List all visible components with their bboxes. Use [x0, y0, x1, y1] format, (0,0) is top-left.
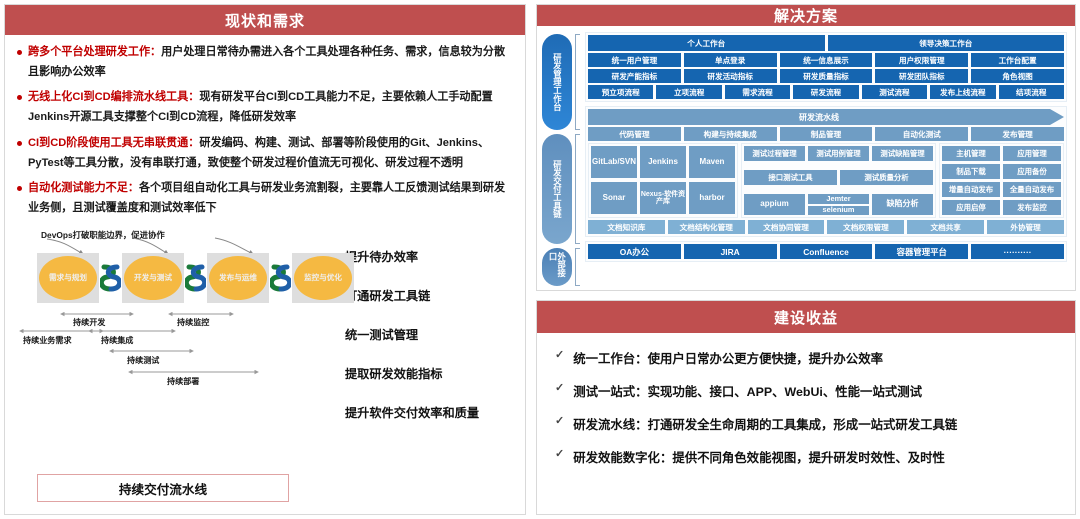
benefit-value: 实现功能、接口、APP、WebUi、性能一站式测试 — [648, 385, 922, 399]
benefit-key: 研发效能数字化： — [573, 451, 672, 465]
benefit-text: 研发流水线：打通研发全生命周期的工具集成，形成一站式研发工具链 — [573, 415, 957, 433]
benefit-value: 提供不同角色效能视图，提升研发时效性、及时性 — [672, 451, 945, 465]
list-item: 跨多个平台处理研发工作：用户处理日常待办需进入各个工具处理各种任务、需求，信息较… — [15, 43, 515, 82]
tool-box-api-test[interactable]: 接口测试工具 — [744, 170, 837, 185]
devops-stage-label: 发布与运维 — [209, 256, 267, 300]
devops-note: DevOps打破职能边界，促进协作 — [41, 229, 165, 241]
module-box[interactable]: 发布上线流程 — [930, 85, 995, 99]
bracket — [575, 134, 580, 244]
external-box-oa[interactable]: OA办公 — [588, 244, 681, 259]
layer-pill-external: 外部接口 — [542, 248, 572, 286]
benefits-title: 建设收益 — [537, 301, 1075, 333]
tool-row: 主机管理 应用管理 — [942, 146, 1061, 161]
tool-box-selenium[interactable]: selenium — [808, 206, 869, 216]
benefit-text: 测试一站式：实现功能、接口、APP、WebUi、性能一站式测试 — [573, 382, 922, 400]
deploy-tools: 主机管理 应用管理 制品下载 应用备份 增量自动发布 全量自动发布 — [939, 143, 1064, 218]
benefit-key: 统一工作台： — [573, 352, 647, 366]
outcome-item: 提取研发效能指标 — [345, 364, 515, 382]
benefit-text: 研发效能数字化：提供不同角色效能视图，提升研发时效性、及时性 — [573, 448, 945, 466]
bullet-key: 跨多个平台处理研发工作： — [28, 46, 161, 58]
module-box[interactable]: 角色视图 — [971, 69, 1064, 83]
slide-root: 现状和需求 跨多个平台处理研发工作：用户处理日常待办需进入各个工具处理各种任务、… — [0, 0, 1080, 519]
list-item: 无线上化CI到CD编排流水线工具：现有研发平台CI到CD工具能力不足，主要依赖人… — [15, 88, 515, 127]
tool-row: appium Jemter selenium 缺陷分析 — [744, 194, 933, 215]
current-state-body: 跨多个平台处理研发工作：用户处理日常待办需进入各个工具处理各种任务、需求，信息较… — [5, 35, 525, 514]
list-item: ✓ 统一工作台：使用户日常办公更方便快捷，提升办公效率 — [555, 349, 1061, 367]
workbench-leader[interactable]: 领导决策工作台 — [828, 35, 1065, 51]
tool-box-defect-analysis[interactable]: 缺陷分析 — [872, 194, 933, 215]
external-box-more[interactable]: ·········· — [971, 244, 1064, 259]
tool-box-test-case[interactable]: 测试用例管理 — [808, 146, 869, 161]
measure-label: 持续部署 — [167, 376, 199, 387]
devops-stage: 发布与运维 — [207, 253, 269, 303]
phase-box[interactable]: 发布管理 — [971, 127, 1064, 141]
check-icon: ✓ — [555, 448, 564, 462]
tool-box-jenkins[interactable]: Jenkins — [640, 146, 686, 178]
outcome-item: 提升软件交付效率和质量 — [345, 403, 515, 421]
measure-label: 持续业务需求 — [23, 335, 72, 346]
tool-box-maven[interactable]: Maven — [689, 146, 735, 178]
tool-box-test-process[interactable]: 测试过程管理 — [744, 146, 805, 161]
tool-matrix: GitLab/SVN Jenkins Maven Sonar Nexus-软件资… — [588, 143, 1064, 218]
module-box[interactable]: 测试流程 — [862, 85, 927, 99]
module-box[interactable]: 研发流程 — [793, 85, 858, 99]
pipeline-arrow: 研发流水线 — [588, 109, 1064, 125]
check-icon: ✓ — [555, 382, 564, 396]
test-tools: 测试过程管理 测试用例管理 测试缺陷管理 接口测试工具 测试质量分析 appiu… — [741, 143, 936, 218]
measure-arrow-lines — [15, 309, 345, 439]
devops-graphic: DevOps打破职能边界，促进协作 — [15, 225, 345, 510]
devops-stage-label: 需求与规划 — [39, 256, 97, 300]
list-item: ✓ 研发流水线：打通研发全生命周期的工具集成，形成一站式研发工具链 — [555, 415, 1061, 433]
module-box[interactable]: 研发活动指标 — [684, 69, 777, 83]
outcome-item: 统一测试管理 — [345, 325, 515, 343]
tool-box-gitlab[interactable]: GitLab/SVN — [591, 146, 637, 178]
module-box[interactable]: 结项流程 — [999, 85, 1064, 99]
infinity-icon — [184, 262, 207, 294]
right-column: 解决方案 研发管理工作台 研发交付工具链 外部接口 个人工作台 — [536, 4, 1076, 515]
external-group: OA办公 JIRA Confluence 容器管理平台 ·········· — [585, 241, 1067, 262]
workbench-row-2: 统一用户管理 单点登录 统一信息展示 用户权限管理 工作台配置 — [588, 53, 1064, 67]
tool-row: 增量自动发布 全量自动发布 — [942, 182, 1061, 197]
outcome-item: 提升待办效率 — [345, 247, 515, 265]
benefit-text: 统一工作台：使用户日常办公更方便快捷，提升办公效率 — [573, 349, 883, 367]
devops-stage: 需求与规划 — [37, 253, 99, 303]
tool-box-sonar[interactable]: Sonar — [591, 182, 637, 214]
benefit-value: 打通研发全生命周期的工具集成，形成一站式研发工具链 — [648, 418, 958, 432]
bullet-key: 无线上化CI到CD编排流水线工具： — [28, 91, 199, 103]
doc-box[interactable]: 文档知识库 — [588, 220, 665, 234]
infinity-icon — [99, 262, 122, 294]
external-row: OA办公 JIRA Confluence 容器管理平台 ·········· — [588, 244, 1064, 259]
bullet-key: 自动化测试能力不足： — [28, 182, 139, 194]
tool-box-full-release[interactable]: 全量自动发布 — [1003, 182, 1061, 197]
doc-box[interactable]: 文档协同管理 — [748, 220, 825, 234]
solution-card: 解决方案 研发管理工作台 研发交付工具链 外部接口 个人工作台 — [536, 4, 1076, 291]
tool-subcolumn: Jemter selenium — [808, 194, 869, 215]
list-item: ✓ 研发效能数字化：提供不同角色效能视图，提升研发时效性、及时性 — [555, 448, 1061, 466]
workbench-row-3: 研发产能指标 研发活动指标 研发质量指标 研发团队指标 角色视图 — [588, 69, 1064, 83]
outcomes-list: 提升待办效率 打通研发工具链 统一测试管理 提取研发效能指标 提升软件交付效率和… — [345, 225, 515, 510]
module-box[interactable]: 单点登录 — [684, 53, 777, 67]
current-state-title: 现状和需求 — [5, 5, 525, 35]
tool-box-app-startstop[interactable]: 应用启停 — [942, 200, 1000, 215]
solution-title: 解决方案 — [537, 5, 1075, 26]
tool-row: 制品下载 应用备份 — [942, 164, 1061, 179]
layer-pill-toolchain: 研发交付工具链 — [542, 134, 572, 244]
tool-row: 应用启停 发布监控 — [942, 200, 1061, 215]
workbench-group: 个人工作台 领导决策工作台 统一用户管理 单点登录 统一信息展示 用户权限管理 … — [585, 32, 1067, 102]
bracket — [575, 248, 580, 286]
devops-stage-label: 开发与测试 — [124, 256, 182, 300]
scm-build-tools: GitLab/SVN Jenkins Maven Sonar Nexus-软件资… — [588, 143, 738, 218]
tool-box-release-monitor[interactable]: 发布监控 — [1003, 200, 1061, 215]
tool-row: 测试过程管理 测试用例管理 测试缺陷管理 — [744, 146, 933, 167]
phase-box[interactable]: 构建与持续集成 — [684, 127, 777, 141]
current-state-card: 现状和需求 跨多个平台处理研发工作：用户处理日常待办需进入各个工具处理各种任务、… — [4, 4, 526, 515]
pipeline-phase-row: 代码管理 构建与持续集成 制品管理 自动化测试 发布管理 — [588, 127, 1064, 141]
benefit-value: 使用户日常办公更方便快捷，提升办公效率 — [648, 352, 883, 366]
current-state-bullet-list: 跨多个平台处理研发工作：用户处理日常待办需进入各个工具处理各种任务、需求，信息较… — [15, 43, 515, 219]
module-box[interactable]: 统一信息展示 — [780, 53, 873, 67]
phase-box[interactable]: 代码管理 — [588, 127, 681, 141]
external-box-container-platform[interactable]: 容器管理平台 — [875, 244, 968, 259]
continuous-delivery-pipeline-box: 持续交付流水线 — [37, 474, 289, 502]
tool-box-host-mgmt[interactable]: 主机管理 — [942, 146, 1000, 161]
external-box-confluence[interactable]: Confluence — [780, 244, 873, 259]
tool-box-incremental-release[interactable]: 增量自动发布 — [942, 182, 1000, 197]
measure-label: 持续测试 — [127, 355, 159, 366]
module-box[interactable]: 需求流程 — [725, 85, 790, 99]
toolchain-group: 研发流水线 代码管理 构建与持续集成 制品管理 自动化测试 发布管理 — [585, 106, 1067, 237]
module-box[interactable]: 立项流程 — [656, 85, 721, 99]
benefit-key: 研发流水线： — [573, 418, 647, 432]
tool-box-app-backup[interactable]: 应用备份 — [1003, 164, 1061, 179]
tool-box-appium[interactable]: appium — [744, 194, 805, 215]
workbench-top-row: 个人工作台 领导决策工作台 — [588, 35, 1064, 51]
check-icon: ✓ — [555, 349, 564, 363]
arrow-tip-icon — [1050, 109, 1064, 125]
module-box[interactable]: 研发质量指标 — [780, 69, 873, 83]
phase-box[interactable]: 自动化测试 — [875, 127, 968, 141]
list-item: ✓ 测试一站式：实现功能、接口、APP、WebUi、性能一站式测试 — [555, 382, 1061, 400]
infinity-icon — [269, 262, 292, 294]
layer-pill-workbench: 研发管理工作台 — [542, 34, 572, 130]
doc-box[interactable]: 外协管理 — [987, 220, 1064, 234]
measure-label: 持续开发 — [73, 317, 105, 328]
doc-box[interactable]: 文档共享 — [907, 220, 984, 234]
benefits-card: 建设收益 ✓ 统一工作台：使用户日常办公更方便快捷，提升办公效率 ✓ 测试一站式… — [536, 300, 1076, 515]
bracket-column — [575, 32, 582, 286]
module-box[interactable]: 研发产能指标 — [588, 69, 681, 83]
external-box-jira[interactable]: JIRA — [684, 244, 777, 259]
tool-row: GitLab/SVN Jenkins Maven — [591, 146, 735, 179]
module-box[interactable]: 研发团队指标 — [875, 69, 968, 83]
outcome-item: 打通研发工具链 — [345, 286, 515, 304]
devops-stage: 监控与优化 — [292, 253, 354, 303]
check-icon: ✓ — [555, 415, 564, 429]
devops-stage: 开发与测试 — [122, 253, 184, 303]
tool-row: 接口测试工具 测试质量分析 — [744, 170, 933, 191]
module-box[interactable]: 用户权限管理 — [875, 53, 968, 67]
module-box[interactable]: 预立项流程 — [588, 85, 653, 99]
tool-box-harbor[interactable]: harbor — [689, 182, 735, 214]
tool-box-jmeter[interactable]: Jemter — [808, 194, 869, 204]
workbench-personal[interactable]: 个人工作台 — [588, 35, 825, 51]
workbench-row-4: 预立项流程 立项流程 需求流程 研发流程 测试流程 发布上线流程 结项流程 — [588, 85, 1064, 99]
solution-architecture: 研发管理工作台 研发交付工具链 外部接口 个人工作台 领导决策工作台 — [537, 26, 1075, 292]
module-box[interactable]: 统一用户管理 — [588, 53, 681, 67]
module-box[interactable]: 工作台配置 — [971, 53, 1064, 67]
devops-stage-label: 监控与优化 — [294, 256, 352, 300]
measure-label: 持续监控 — [177, 317, 209, 328]
bullet-key: CI到CD阶段使用工具无串联贯通： — [28, 137, 199, 149]
list-item: 自动化测试能力不足：各个项目组自动化工具与研发业务流割裂，主要靠人工反馈测试结果… — [15, 179, 515, 218]
measure-label: 持续集成 — [101, 335, 133, 346]
devops-diagram: DevOps打破职能边界，促进协作 — [15, 225, 515, 510]
tool-box-app-mgmt[interactable]: 应用管理 — [1003, 146, 1061, 161]
pipeline-arrow-label: 研发流水线 — [588, 109, 1050, 125]
doc-box[interactable]: 文档结构化管理 — [668, 220, 745, 234]
bracket — [575, 34, 580, 130]
devops-stage-row: 需求与规划 开发与测试 — [37, 253, 354, 303]
tool-row: Sonar Nexus-软件资产库 harbor — [591, 182, 735, 215]
phase-box[interactable]: 制品管理 — [780, 127, 873, 141]
devops-measure-arrows: 持续开发 持续监控 持续业务需求 持续集成 持续测试 持续部署 — [15, 309, 345, 439]
doc-box[interactable]: 文档权限管理 — [827, 220, 904, 234]
tool-box-nexus[interactable]: Nexus-软件资产库 — [640, 182, 686, 214]
document-row: 文档知识库 文档结构化管理 文档协同管理 文档权限管理 文档共享 外协管理 — [588, 220, 1064, 234]
benefit-key: 测试一站式： — [573, 385, 647, 399]
benefits-list: ✓ 统一工作台：使用户日常办公更方便快捷，提升办公效率 ✓ 测试一站式：实现功能… — [537, 333, 1075, 514]
layer-pill-column: 研发管理工作台 研发交付工具链 外部接口 — [542, 32, 572, 286]
list-item: CI到CD阶段使用工具无串联贯通：研发编码、构建、测试、部署等阶段使用的Git、… — [15, 134, 515, 173]
tool-box-test-quality[interactable]: 测试质量分析 — [840, 170, 933, 185]
architecture-groups: 个人工作台 领导决策工作台 统一用户管理 单点登录 统一信息展示 用户权限管理 … — [585, 32, 1067, 286]
tool-box-artifact-download[interactable]: 制品下载 — [942, 164, 1000, 179]
tool-box-test-defect[interactable]: 测试缺陷管理 — [872, 146, 933, 161]
